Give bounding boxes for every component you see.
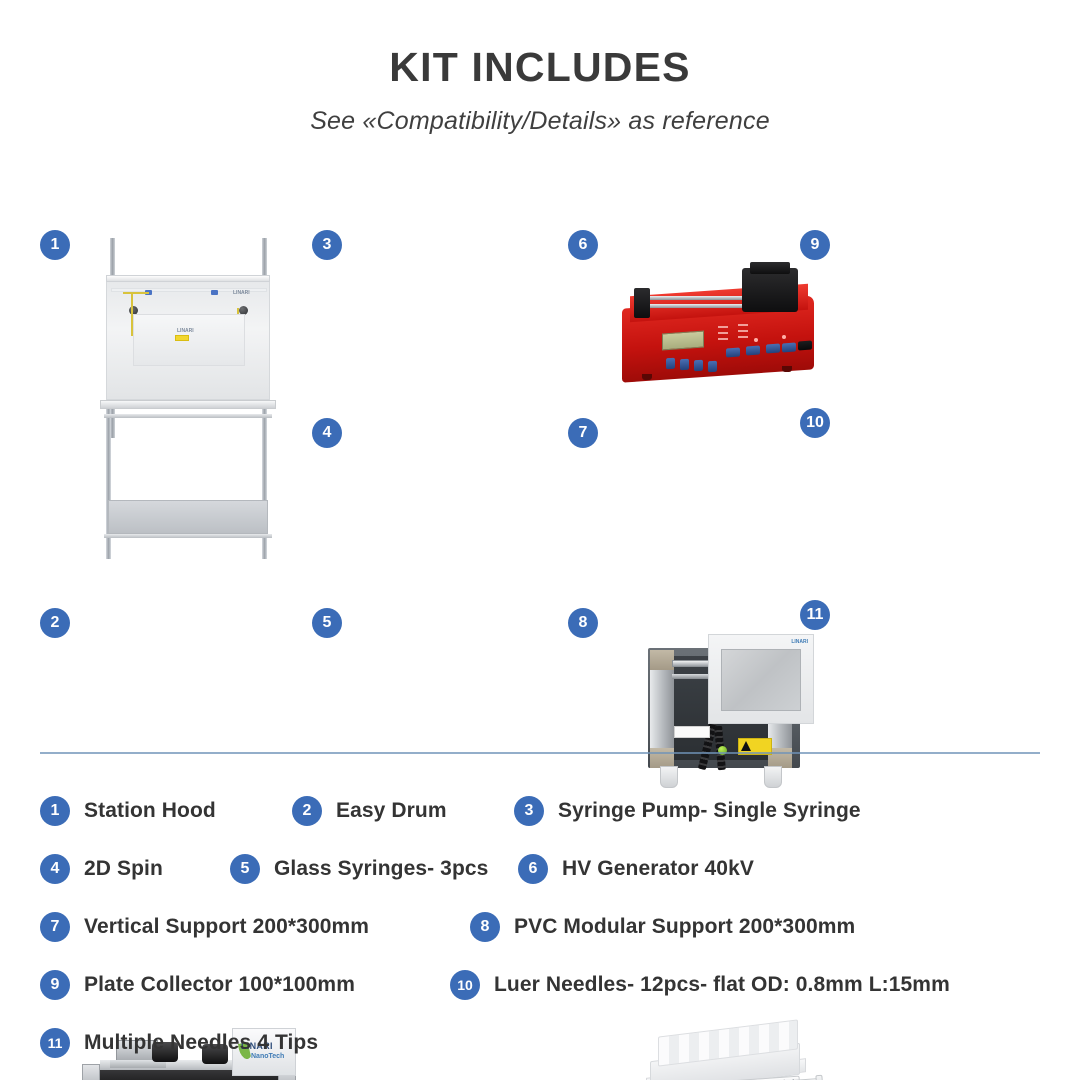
list-item-5: 5 Glass Syringes- 3pcs — [230, 854, 518, 884]
product-photo-grid: 1 LINARI LINARI — [40, 222, 1040, 742]
list-item-6: 6 HV Generator 40kV — [518, 854, 754, 884]
legend-badge-4: 4 — [40, 854, 70, 884]
legend-label-7: Vertical Support 200*300mm — [84, 915, 369, 939]
grid-cell-syringe-pump: 3 — [312, 230, 572, 400]
grid-badge-8: 8 — [568, 608, 598, 638]
legend-label-4: 2D Spin — [84, 857, 163, 881]
list-item-2: 2 Easy Drum — [292, 796, 514, 826]
grid-badge-4: 4 — [312, 418, 342, 448]
grid-badge-11: 11 — [800, 600, 830, 630]
grid-cell-hv-generator: 6 LINARI DANGERHIGH VOLTAGE — [568, 230, 838, 405]
grid-badge-9: 9 — [800, 230, 830, 260]
legend-label-10: Luer Needles- 12pcs- flat OD: 0.8mm L:15… — [494, 973, 950, 997]
list-item-7: 7 Vertical Support 200*300mm — [40, 912, 470, 942]
legend-badge-9: 9 — [40, 970, 70, 1000]
legend-badge-10: 10 — [450, 970, 480, 1000]
grid-badge-10: 10 — [800, 408, 830, 438]
legend-label-1: Station Hood — [84, 799, 216, 823]
grid-cell-pvc-modular-support: 8 — [568, 608, 838, 733]
page-header: KIT INCLUDES See «Compatibility/Details»… — [0, 0, 1080, 136]
grid-badge-5: 5 — [312, 608, 342, 638]
grid-cell-easy-drum: 2 LINARI NanoTech — [40, 608, 340, 728]
page-subtitle: See «Compatibility/Details» as reference — [0, 107, 1080, 136]
list-item-8: 8 PVC Modular Support 200*300mm — [470, 912, 855, 942]
grid-badge-7: 7 — [568, 418, 598, 448]
legend-badge-7: 7 — [40, 912, 70, 942]
grid-badge-2: 2 — [40, 608, 70, 638]
legend-label-3: Syringe Pump- Single Syringe — [558, 799, 861, 823]
list-item-9: 9 Plate Collector 100*100mm — [40, 970, 450, 1000]
legend-label-6: HV Generator 40kV — [562, 857, 754, 881]
list-item-10: 10 Luer Needles- 12pcs- flat OD: 0.8mm L… — [450, 970, 950, 1000]
page-title: KIT INCLUDES — [0, 44, 1080, 91]
legend-label-2: Easy Drum — [336, 799, 447, 823]
legend-badge-5: 5 — [230, 854, 260, 884]
station-hood-photo: LINARI LINARI — [76, 238, 298, 568]
legend-label-8: PVC Modular Support 200*300mm — [514, 915, 855, 939]
section-divider — [40, 752, 1040, 754]
legend-row-4: 9 Plate Collector 100*100mm 10 Luer Need… — [40, 956, 1050, 1014]
grid-cell-station-hood: 1 LINARI LINARI — [40, 230, 340, 570]
grid-cell-luer-needles: 10 — [800, 408, 1080, 573]
list-item-3: 3 Syringe Pump- Single Syringe — [514, 796, 861, 826]
kit-includes-page: KIT INCLUDES See «Compatibility/Details»… — [0, 0, 1080, 1080]
legend-row-3: 7 Vertical Support 200*300mm 8 PVC Modul… — [40, 898, 1050, 956]
grid-badge-3: 3 — [312, 230, 342, 260]
list-item-11: 11 Multiple Needles 4 Tips — [40, 1028, 318, 1058]
grid-cell-multiple-needles: 11 — [800, 600, 1080, 740]
grid-badge-6: 6 — [568, 230, 598, 260]
legend-badge-11: 11 — [40, 1028, 70, 1058]
grid-cell-vertical-support: 7 — [568, 418, 838, 603]
grid-cell-plate-collector: 9 — [800, 230, 1080, 405]
legend-badge-6: 6 — [518, 854, 548, 884]
list-item-4: 4 2D Spin — [40, 854, 230, 884]
legend-row-2: 4 2D Spin 5 Glass Syringes- 3pcs 6 HV Ge… — [40, 840, 1050, 898]
legend-badge-8: 8 — [470, 912, 500, 942]
grid-cell-2d-spin: 4 LINARI — [312, 418, 572, 608]
legend-label-11: Multiple Needles 4 Tips — [84, 1031, 318, 1055]
legend-badge-3: 3 — [514, 796, 544, 826]
legend-badge-2: 2 — [292, 796, 322, 826]
legend-row-5: 11 Multiple Needles 4 Tips — [40, 1014, 1050, 1072]
legend-row-1: 1 Station Hood 2 Easy Drum 3 Syringe Pum… — [40, 782, 1050, 840]
grid-badge-1: 1 — [40, 230, 70, 260]
legend-label-5: Glass Syringes- 3pcs — [274, 857, 488, 881]
grid-cell-glass-syringes: 5 — [312, 608, 572, 733]
legend-label-9: Plate Collector 100*100mm — [84, 973, 355, 997]
kit-legend-list: 1 Station Hood 2 Easy Drum 3 Syringe Pum… — [40, 782, 1050, 1072]
legend-badge-1: 1 — [40, 796, 70, 826]
list-item-1: 1 Station Hood — [40, 796, 292, 826]
